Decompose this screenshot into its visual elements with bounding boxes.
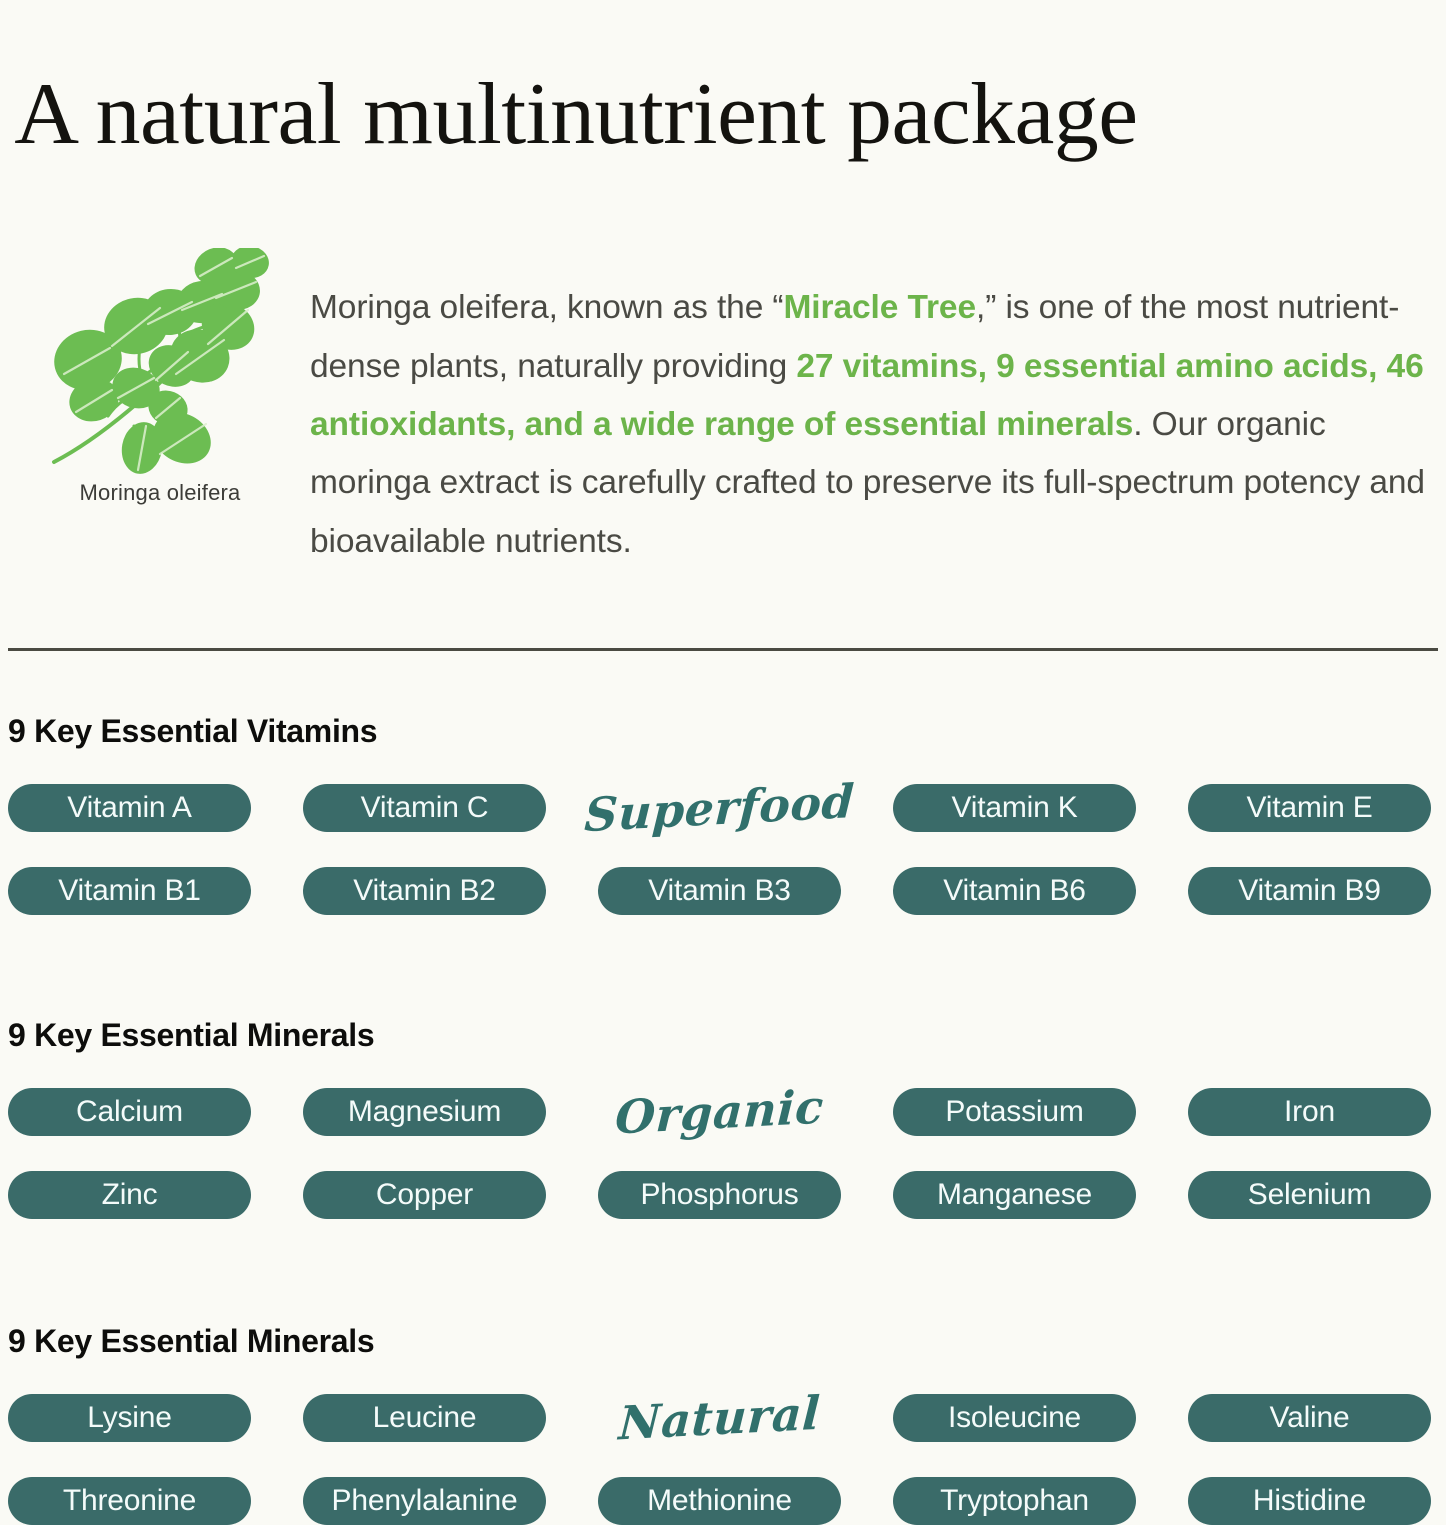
nutrient-pill[interactable]: Magnesium bbox=[303, 1088, 546, 1136]
script-label-minerals: Organic bbox=[597, 1082, 842, 1143]
pill-grid-minerals: CalciumMagnesiumOrganicPotassiumIronZinc… bbox=[8, 1088, 1438, 1219]
nutrient-pill[interactable]: Manganese bbox=[893, 1171, 1136, 1219]
nutrient-pill[interactable]: Vitamin B6 bbox=[893, 867, 1136, 915]
script-label-vitamins: Superfood bbox=[597, 778, 842, 839]
section-vitamins: 9 Key Essential Vitamins Vitamin AVitami… bbox=[0, 713, 1446, 915]
nutrient-pill[interactable]: Vitamin E bbox=[1188, 784, 1431, 832]
nutrient-pill[interactable]: Leucine bbox=[303, 1394, 546, 1442]
nutrient-pill[interactable]: Potassium bbox=[893, 1088, 1136, 1136]
section-minerals: 9 Key Essential Minerals CalciumMagnesiu… bbox=[0, 1017, 1446, 1219]
nutrient-pill[interactable]: Vitamin B1 bbox=[8, 867, 251, 915]
nutrient-pill[interactable]: Tryptophan bbox=[893, 1477, 1136, 1525]
nutrient-pill[interactable]: Valine bbox=[1188, 1394, 1431, 1442]
plant-figure: Moringa oleifera bbox=[10, 244, 310, 506]
section-heading-amino-acids: 9 Key Essential Minerals bbox=[8, 1323, 1438, 1360]
nutrient-pill[interactable]: Vitamin B2 bbox=[303, 867, 546, 915]
section-amino-acids: 9 Key Essential Minerals LysineLeucineNa… bbox=[0, 1323, 1446, 1525]
nutrient-pill[interactable]: Vitamin B3 bbox=[598, 867, 841, 915]
section-heading-vitamins: 9 Key Essential Vitamins bbox=[8, 713, 1438, 750]
nutrient-pill[interactable]: Calcium bbox=[8, 1088, 251, 1136]
pill-grid-vitamins: Vitamin AVitamin CSuperfoodVitamin KVita… bbox=[8, 784, 1438, 915]
intro-text-run: Moringa oleifera, known as the “ bbox=[310, 289, 784, 326]
nutrient-pill[interactable]: Vitamin C bbox=[303, 784, 546, 832]
moringa-leaf-branch-icon bbox=[50, 248, 270, 476]
nutrient-pill[interactable]: Histidine bbox=[1188, 1477, 1431, 1525]
nutrient-pill[interactable]: Copper bbox=[303, 1171, 546, 1219]
pill-grid-amino-acids: LysineLeucineNaturalIsoleucineValineThre… bbox=[8, 1394, 1438, 1525]
intro-highlight: Miracle Tree bbox=[784, 289, 976, 326]
nutrient-pill[interactable]: Phenylalanine bbox=[303, 1477, 546, 1525]
section-divider bbox=[8, 648, 1438, 651]
nutrient-pill[interactable]: Zinc bbox=[8, 1171, 251, 1219]
nutrient-pill[interactable]: Vitamin A bbox=[8, 784, 251, 832]
nutrient-pill[interactable]: Selenium bbox=[1188, 1171, 1431, 1219]
intro-block: Moringa oleifera Moringa oleifera, known… bbox=[0, 218, 1446, 604]
nutrient-pill[interactable]: Phosphorus bbox=[598, 1171, 841, 1219]
nutrient-pill[interactable]: Iron bbox=[1188, 1088, 1431, 1136]
nutrient-pill[interactable]: Threonine bbox=[8, 1477, 251, 1525]
nutrient-pill[interactable]: Vitamin B9 bbox=[1188, 867, 1431, 915]
section-heading-minerals: 9 Key Essential Minerals bbox=[8, 1017, 1438, 1054]
intro-paragraph: Moringa oleifera, known as the “Miracle … bbox=[310, 277, 1436, 570]
nutrient-pill[interactable]: Lysine bbox=[8, 1394, 251, 1442]
page-title: A natural multinutrient package bbox=[0, 59, 1446, 159]
nutrient-pill[interactable]: Vitamin K bbox=[893, 784, 1136, 832]
nutrient-pill[interactable]: Isoleucine bbox=[893, 1394, 1136, 1442]
nutrient-pill[interactable]: Methionine bbox=[598, 1477, 841, 1525]
plant-caption: Moringa oleifera bbox=[80, 480, 241, 506]
